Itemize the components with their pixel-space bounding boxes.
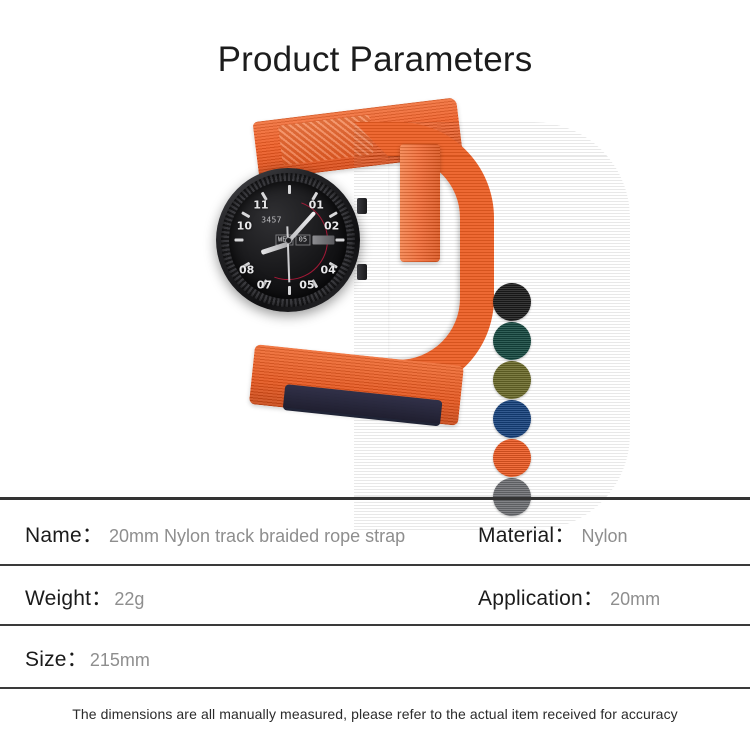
color-swatch-orange[interactable] xyxy=(493,439,531,477)
table-divider-bottom xyxy=(0,687,750,689)
watch-tick xyxy=(288,185,291,194)
measurement-disclaimer: The dimensions are all manually measured… xyxy=(0,706,750,722)
spec-value-material: Nylon xyxy=(582,526,628,547)
smartwatch: 01 02 04 05 07 08 10 11 3457 WED 05 xyxy=(216,168,360,312)
color-swatch-list xyxy=(493,283,533,517)
watch-hour-10: 10 xyxy=(237,219,252,232)
watch-hour-04: 04 xyxy=(320,263,335,276)
watch-tick xyxy=(241,211,250,218)
watch-date-number: 05 xyxy=(296,235,310,246)
spec-value-size: 215mm xyxy=(90,650,150,671)
watch-tick xyxy=(329,211,338,218)
page-title: Product Parameters xyxy=(0,40,750,80)
spec-value-weight: 22g xyxy=(114,589,144,610)
spec-label-application: Application： xyxy=(478,582,604,612)
table-divider-1 xyxy=(0,564,750,566)
spec-cell-name: Name： 20mm Nylon track braided rope stra… xyxy=(25,519,405,549)
table-divider-top xyxy=(0,497,750,500)
strap-keeper xyxy=(400,144,440,262)
watch-hour-08: 08 xyxy=(239,263,254,276)
watch-step-count: 3457 xyxy=(261,215,281,224)
spec-cell-size: Size： 215mm xyxy=(25,643,150,673)
watch-hour-01: 01 xyxy=(309,198,324,211)
watch-tick xyxy=(288,286,291,295)
spec-cell-weight: Weight： 22g xyxy=(25,582,144,612)
color-swatch-navy-blue[interactable] xyxy=(493,400,531,438)
watch-crown-upper xyxy=(357,198,367,214)
product-image: 01 02 04 05 07 08 10 11 3457 WED 05 xyxy=(0,100,750,480)
color-swatch-army-green[interactable] xyxy=(493,361,531,399)
table-divider-2 xyxy=(0,624,750,626)
watch-hour-05: 05 xyxy=(299,278,314,291)
table-row: Size： 215mm xyxy=(0,628,750,688)
spec-label-name: Name： xyxy=(25,519,103,549)
watch-hour-02: 02 xyxy=(324,219,339,232)
watch-tick xyxy=(336,239,345,242)
table-row: Name： 20mm Nylon track braided rope stra… xyxy=(0,504,750,564)
spec-label-weight: Weight： xyxy=(25,582,112,612)
watch-hand-hub xyxy=(285,237,292,244)
spec-cell-material: Material： Nylon xyxy=(478,519,628,549)
color-swatch-black[interactable] xyxy=(493,283,531,321)
spec-label-material: Material： xyxy=(478,519,576,549)
watch-hour-07: 07 xyxy=(257,278,272,291)
watch-hour-11: 11 xyxy=(253,198,268,211)
spec-value-application: 20mm xyxy=(610,589,660,610)
watch-date-bar xyxy=(312,236,334,245)
watch-tick xyxy=(235,239,244,242)
spec-value-name: 20mm Nylon track braided rope strap xyxy=(109,526,405,547)
watch-crown-lower xyxy=(357,264,367,280)
product-parameters-page: Product Parameters xyxy=(0,0,750,750)
spec-label-size: Size： xyxy=(25,643,88,673)
table-row: Weight： 22g Application： 20mm xyxy=(0,567,750,627)
spec-cell-application: Application： 20mm xyxy=(478,582,660,612)
color-swatch-dark-green[interactable] xyxy=(493,322,531,360)
watch-face: 01 02 04 05 07 08 10 11 3457 WED 05 xyxy=(229,181,347,299)
